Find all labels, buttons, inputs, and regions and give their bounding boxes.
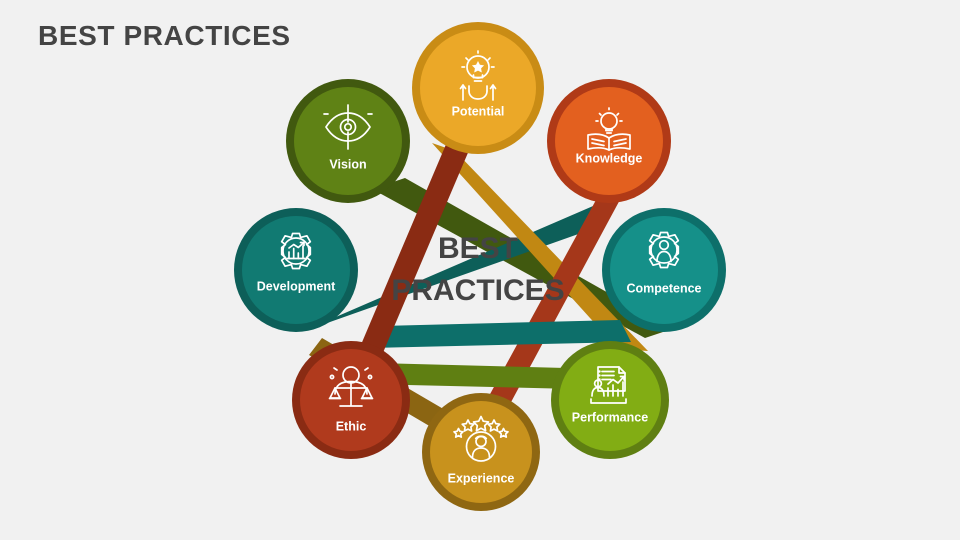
center-title-line2: PRACTICES [391,274,564,307]
node-development[interactable]: Development [234,208,358,332]
node-development-label: Development [257,279,336,293]
node-potential-fill [420,30,536,146]
node-vision-label: Vision [329,157,366,171]
node-ethic-label: Ethic [336,419,367,433]
node-performance-label: Performance [572,410,648,424]
node-knowledge-label: Knowledge [576,151,643,165]
slide-canvas: BEST PRACTICES [0,0,960,540]
node-performance-fill [559,349,661,451]
node-development-fill [242,216,350,324]
node-potential-label: Potential [452,104,505,118]
node-experience-label: Experience [448,471,515,485]
center-title-line1: BEST [438,232,518,265]
node-ethic[interactable]: Ethic [292,341,410,459]
best-practices-circular-diagram: Potential Knowledge [0,0,960,540]
node-knowledge[interactable]: Knowledge [547,79,671,203]
node-experience[interactable]: Experience [422,393,540,511]
node-potential[interactable]: Potential [412,22,544,154]
node-competence[interactable]: Competence [602,208,726,332]
node-vision[interactable]: Vision [286,79,410,203]
connector-competence-ethic [368,320,631,348]
node-performance[interactable]: Performance [551,341,669,459]
node-competence-label: Competence [626,281,701,295]
